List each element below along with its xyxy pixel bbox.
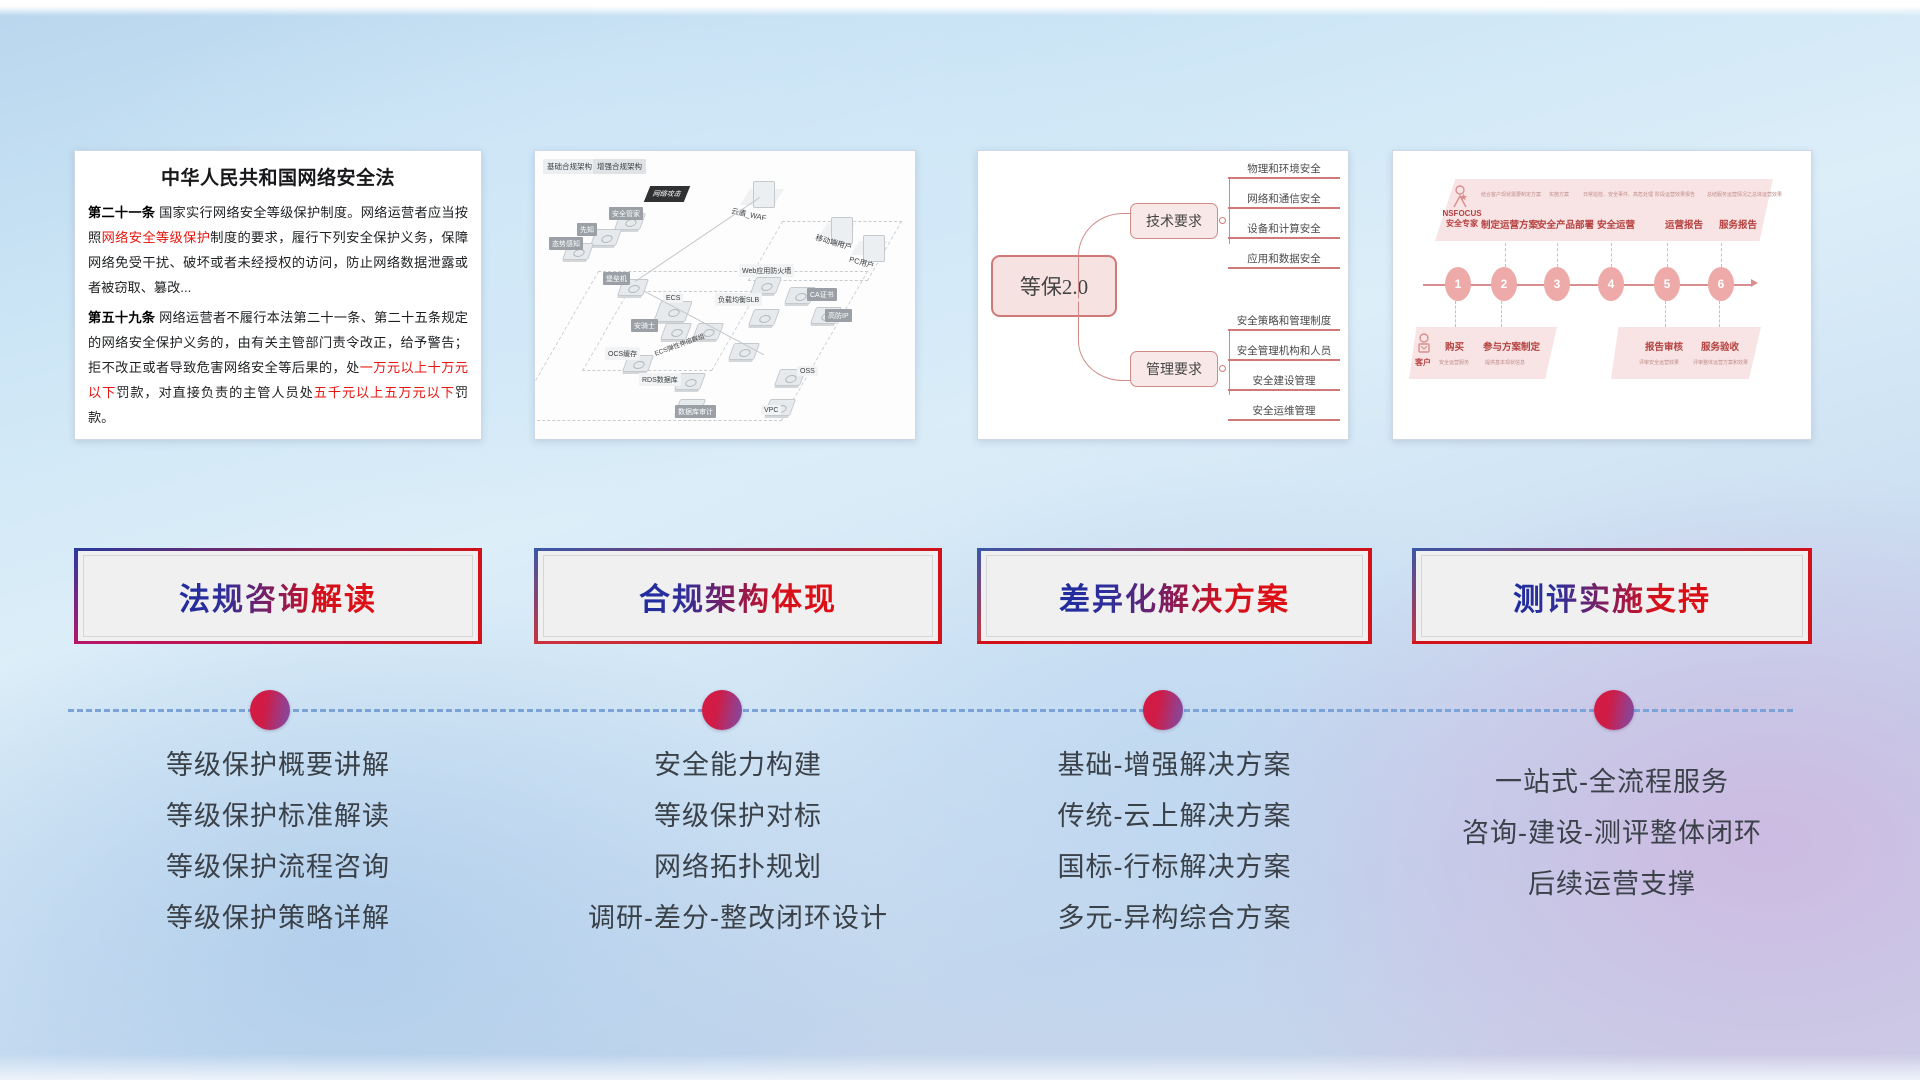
bottom-step-3-title: 报告审核 (1645, 339, 1683, 353)
top-step-2-title: 安全产品部署 (1537, 217, 1594, 231)
mindmap: 等保2.0 技术要求 管理要求 物理和环境安全 网络和通信安全 设备和计算安全 … (978, 151, 1348, 439)
arch-label-ocs-cache: OCS缓存 (605, 347, 640, 360)
arch-label-anqishi: 安骑士 (631, 319, 658, 332)
thumbnail-row: 中华人民共和国网络安全法 第二十一条 国家实行网络安全等级保护制度。网络运营者应… (0, 150, 1920, 440)
bottom-step-4-sub: 评审整体运营方案和效果 (1693, 359, 1748, 366)
arch-label-slb: 负载均衡SLB (715, 293, 762, 306)
timeline-dashed-line (68, 709, 1793, 712)
list-item: 等级保护策略详解 (74, 893, 482, 944)
banner-2-frame-bottom (534, 641, 942, 644)
timeline-dot-3[interactable] (1143, 690, 1183, 730)
banner-3-frame-left (977, 548, 981, 644)
arch-attack-badge: 网络攻击 (644, 186, 690, 202)
timeline-dash-b4 (1719, 301, 1720, 327)
arch-label-vpc: VPC (761, 405, 781, 415)
timeline-axis (1423, 284, 1753, 286)
mindmap-collapse-dot-technical[interactable] (1219, 217, 1226, 224)
detail-lists: 等级保护概要讲解 等级保护标准解读 等级保护流程咨询 等级保护策略详解 安全能力… (0, 740, 1920, 990)
thumbnail-nsfocus-timeline[interactable]: NSFOCUS 安全专家 客户 1 2 3 4 5 6 (1392, 150, 1812, 440)
arch-label-oss: OSS (797, 366, 818, 376)
timeline-dash-b1 (1455, 301, 1456, 327)
top-step-4-sub: 阶段运营效果报告 (1655, 191, 1695, 198)
dashed-timeline (0, 690, 1920, 730)
top-step-1-title: 制定运营方案 (1481, 217, 1538, 231)
law-run-2-2: 罚款，对直接负责的主管人员处 (116, 385, 314, 400)
list-item: 基础-增强解决方案 (977, 740, 1372, 791)
list-item: 调研-差分-整改闭环设计 (534, 893, 942, 944)
banner-1-label: 法规咨询解读 (179, 574, 377, 619)
arch-tab-basic[interactable]: 基础合规架构 (543, 159, 596, 174)
timeline-dash-3 (1557, 243, 1558, 267)
arch-label-anti-ddos-ip: 高防IP (825, 309, 852, 322)
banner-3-frame-bottom (977, 641, 1372, 644)
law-article-number-1: 第二十一条 (88, 205, 155, 220)
detail-list-column-4: 一站式-全流程服务 咨询-建设-测评整体闭环 后续运营支撑 (1412, 757, 1812, 910)
banner-2-frame-left (534, 548, 538, 644)
law-paragraph-1: 第二十一条 国家实行网络安全等级保护制度。网络运营者应当按照网络安全等级保护制度… (88, 200, 468, 300)
list-item: 等级保护概要讲解 (74, 740, 482, 791)
banner-row: 法规咨询解读 合规架构体现 差异化解决方案 测评实施支持 (0, 548, 1920, 644)
mindmap-leaf-t2: 网络和通信安全 (1228, 191, 1340, 209)
arch-label-db-audit: 数据库审计 (675, 405, 716, 418)
mindmap-branch-technical: 技术要求 (1130, 203, 1218, 239)
bottom-step-3-sub: 评审安全运营效果 (1639, 359, 1679, 366)
timeline-dash-4 (1611, 243, 1612, 267)
timeline-dot-4[interactable] (1594, 690, 1634, 730)
law-paragraph-2: 第五十九条 网络运营者不履行本法第二十一条、第二十五条规定的网络安全保护义务的，… (88, 305, 468, 430)
timeline-node-6: 6 (1708, 267, 1734, 301)
list-item: 传统-云上解决方案 (977, 791, 1372, 842)
cloud-architecture-diagram: 基础合规架构 增强合规架构 网络攻击 (535, 151, 915, 439)
customer-label: 客户 (1415, 357, 1431, 368)
list-item: 咨询-建设-测评整体闭环 (1412, 808, 1812, 859)
banner-2-label: 合规架构体现 (639, 574, 837, 619)
timeline-node-3: 3 (1544, 267, 1570, 301)
arch-label-cloud-waf: 云盾_WAF (730, 205, 767, 223)
list-item: 后续运营支撑 (1412, 859, 1812, 910)
top-step-4-title: 运营报告 (1665, 217, 1703, 231)
expert-person-icon (1451, 185, 1471, 209)
nsfocus-service-timeline: NSFOCUS 安全专家 客户 1 2 3 4 5 6 (1393, 151, 1811, 439)
law-title: 中华人民共和国网络安全法 (88, 163, 468, 190)
timeline-node-5: 5 (1654, 267, 1680, 301)
banner-differentiated-solution[interactable]: 差异化解决方案 (977, 548, 1372, 644)
mindmap-collapse-dot-management[interactable] (1219, 365, 1226, 372)
law-run-2-3: 五千元以上五万元以下 (314, 385, 455, 400)
mindmap-leaf-t4: 应用和数据安全 (1228, 251, 1340, 269)
banner-2-frame-right (938, 548, 942, 644)
list-item: 国标-行标解决方案 (977, 842, 1372, 893)
top-step-5-title: 服务报告 (1719, 217, 1757, 231)
banner-4-frame-bottom (1412, 641, 1812, 644)
list-item: 安全能力构建 (534, 740, 942, 791)
timeline-node-4: 4 (1598, 267, 1624, 301)
banner-4-frame-left (1412, 548, 1416, 644)
detail-list-column-2: 安全能力构建 等级保护对标 网络拓扑规划 调研-差分-整改闭环设计 (534, 740, 942, 944)
banner-1-frame-left (74, 548, 78, 644)
timeline-dash-b2 (1501, 301, 1502, 327)
bottom-step-1-title: 购买 (1445, 339, 1464, 353)
banner-compliance-architecture[interactable]: 合规架构体现 (534, 548, 942, 644)
banner-4-label: 测评实施支持 (1513, 574, 1711, 619)
timeline-dot-1[interactable] (250, 690, 290, 730)
arch-label-ca-cert: CA证书 (807, 288, 837, 301)
list-item: 多元-异构综合方案 (977, 893, 1372, 944)
top-step-3-title: 安全运营 (1597, 217, 1635, 231)
detail-list-column-1: 等级保护概要讲解 等级保护标准解读 等级保护流程咨询 等级保护策略详解 (74, 740, 482, 944)
mindmap-leaf-m1: 安全策略和管理制度 (1228, 313, 1340, 331)
detail-list-column-3: 基础-增强解决方案 传统-云上解决方案 国标-行标解决方案 多元-异构综合方案 (977, 740, 1372, 944)
slide-stage: 中华人民共和国网络安全法 第二十一条 国家实行网络安全等级保护制度。网络运营者应… (0, 0, 1920, 1080)
list-item: 等级保护标准解读 (74, 791, 482, 842)
bottom-step-1-sub: 安全运营服务 (1439, 359, 1469, 366)
law-run-1-1: 网络安全等级保护 (102, 230, 211, 245)
bottom-step-2-title: 参与方案制定 (1483, 339, 1540, 353)
timeline-arrow-icon (1751, 279, 1758, 287)
list-item: 网络拓扑规划 (534, 842, 942, 893)
arch-tab-enhanced[interactable]: 增强合规架构 (593, 159, 646, 174)
banner-2-frame-top (534, 548, 942, 551)
arch-label-bastion-host: 堡垒机 (603, 272, 630, 285)
mindmap-branch-management: 管理要求 (1130, 351, 1218, 387)
timeline-dot-2[interactable] (702, 690, 742, 730)
list-item: 等级保护对标 (534, 791, 942, 842)
mindmap-leaf-m2: 安全管理机构和人员 (1228, 343, 1340, 361)
law-article-number-2: 第五十九条 (88, 310, 155, 325)
list-item: 等级保护流程咨询 (74, 842, 482, 893)
mindmap-leaf-m4: 安全运维管理 (1228, 403, 1340, 421)
customer-person-icon (1415, 333, 1433, 355)
top-step-5-sub: 总结服务运营情况之总体运营效果 (1707, 191, 1782, 198)
timeline-dash-b3 (1665, 301, 1666, 327)
nsfocus-bottom-band-right (1611, 327, 1761, 379)
timeline-node-2: 2 (1491, 267, 1517, 301)
banner-assessment-support[interactable]: 测评实施支持 (1412, 548, 1812, 644)
mindmap-leaf-t1: 物理和环境安全 (1228, 161, 1340, 179)
banner-3-frame-top (977, 548, 1372, 551)
banner-1-frame-right (478, 548, 482, 644)
top-step-1-sub: 结合客户现状需要制定方案 (1481, 191, 1541, 198)
banner-4-frame-top (1412, 548, 1812, 551)
timeline-dash-2 (1505, 243, 1506, 267)
banner-3-label: 差异化解决方案 (1059, 574, 1290, 619)
arch-label-xianzhi: 先知 (577, 223, 597, 236)
timeline-node-1: 1 (1445, 267, 1471, 301)
list-item: 一站式-全流程服务 (1412, 757, 1812, 808)
arch-label-web-firewall: Web应用防火墙 (739, 264, 794, 277)
banner-4-frame-right (1808, 548, 1812, 644)
timeline-dash-5 (1667, 243, 1668, 267)
law-document: 中华人民共和国网络安全法 第二十一条 国家实行网络安全等级保护制度。网络运营者应… (75, 151, 481, 436)
bottom-step-2-sub: 提供基本现状信息 (1485, 359, 1525, 366)
arch-label-situational-awareness: 态势感知 (549, 237, 583, 250)
timeline-dash-6 (1721, 243, 1722, 267)
banner-regulation-consulting[interactable]: 法规咨询解读 (74, 548, 482, 644)
mindmap-leaf-t3: 设备和计算安全 (1228, 221, 1340, 239)
arch-label-security-butler: 安全管家 (609, 207, 643, 220)
top-step-3-sub: 日常巡检、安全事件、高危处理 (1583, 191, 1653, 198)
banner-1-frame-bottom (74, 641, 482, 644)
bottom-step-4-title: 服务验收 (1701, 339, 1739, 353)
arch-server-mobile-app (753, 181, 775, 208)
thumbnail-dengbao-mindmap[interactable]: 等保2.0 技术要求 管理要求 物理和环境安全 网络和通信安全 设备和计算安全 … (977, 150, 1349, 440)
mindmap-leaf-m3: 安全建设管理 (1228, 373, 1340, 391)
banner-1-frame-top (74, 548, 482, 551)
arch-label-rds: RDS数据库 (639, 373, 681, 386)
thumbnail-cloud-architecture[interactable]: 基础合规架构 增强合规架构 网络攻击 (534, 150, 916, 440)
top-step-2-sub: 实施方案 (1549, 191, 1569, 198)
thumbnail-cybersecurity-law[interactable]: 中华人民共和国网络安全法 第二十一条 国家实行网络安全等级保护制度。网络运营者应… (74, 150, 482, 440)
banner-3-frame-right (1368, 548, 1372, 644)
